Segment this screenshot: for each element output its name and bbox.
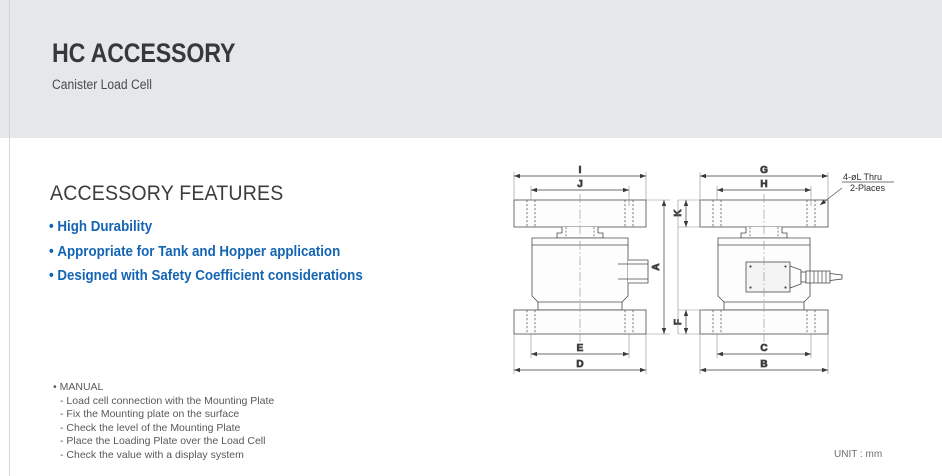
header-left-rule: [9, 0, 10, 138]
side-connector-plate: [746, 262, 790, 292]
manual-step: - Fix the Mounting plate on the surface: [53, 408, 274, 422]
dim-label-E: E: [577, 343, 584, 354]
dim-label-J: J: [577, 179, 583, 190]
feature-item: •Designed with Safety Coefficient consid…: [49, 268, 363, 284]
feature-item: •High Durability: [49, 219, 152, 235]
body-left-rule: [9, 138, 10, 476]
hole-callout-line2: 2-Places: [850, 183, 886, 193]
hole-callout-line1: 4-øL Thru: [843, 172, 882, 182]
dim-label-D: D: [576, 359, 583, 370]
side-connector-neck: [790, 266, 801, 288]
header-band: HC ACCESSORY Canister Load Cell: [0, 0, 942, 138]
dash-icon: -: [60, 435, 64, 447]
feature-label: Appropriate for Tank and Hopper applicat…: [57, 244, 340, 260]
page-title: HC ACCESSORY: [52, 38, 235, 69]
datasheet-page: HC ACCESSORY Canister Load Cell ACCESSOR…: [0, 0, 942, 476]
front-cable-boss: [628, 260, 648, 283]
manual-step: - Check the level of the Mounting Plate: [53, 422, 274, 436]
dim-label-H: H: [760, 179, 767, 190]
dim-label-K: K: [673, 209, 684, 217]
dash-icon: -: [60, 408, 64, 420]
dash-icon: -: [60, 422, 64, 434]
side-cable-end: [830, 274, 842, 281]
front-view-drawing: I J A: [514, 165, 670, 374]
dim-label-C: C: [760, 343, 767, 354]
manual-step: - Check the value with a display system: [53, 449, 274, 463]
unit-note: UNIT : mm: [834, 449, 882, 460]
manual-step: - Load cell connection with the Mounting…: [53, 395, 274, 409]
dim-label-F: F: [673, 319, 684, 325]
manual-title: • MANUAL: [53, 381, 274, 395]
side-view-drawing: G H K: [673, 165, 894, 374]
manual-step-label: Fix the Mounting plate on the surface: [66, 408, 239, 420]
manual-step-label: Load cell connection with the Mounting P…: [66, 395, 274, 407]
bullet-icon: •: [53, 381, 57, 393]
manual-title-label: MANUAL: [60, 381, 104, 393]
technical-drawing-svg: I J A: [490, 150, 942, 390]
dim-label-I: I: [579, 165, 582, 176]
side-cable-strain-relief: [806, 271, 842, 283]
manual-block: • MANUAL - Load cell connection with the…: [53, 381, 274, 462]
manual-step: - Place the Loading Plate over the Load …: [53, 435, 274, 449]
technical-drawing-area: I J A: [490, 150, 942, 390]
dim-label-G: G: [760, 165, 768, 176]
dim-label-B: B: [760, 359, 767, 370]
bullet-icon: •: [49, 219, 54, 235]
manual-step-label: Check the value with a display system: [66, 449, 243, 461]
features-heading: ACCESSORY FEATURES: [50, 182, 283, 206]
feature-label: Designed with Safety Coefficient conside…: [57, 268, 362, 284]
dim-label-A: A: [651, 263, 662, 270]
bullet-icon: •: [49, 268, 54, 284]
manual-step-label: Check the level of the Mounting Plate: [66, 422, 240, 434]
feature-item: •Appropriate for Tank and Hopper applica…: [49, 244, 340, 260]
manual-step-label: Place the Loading Plate over the Load Ce…: [66, 435, 265, 447]
dash-icon: -: [60, 395, 64, 407]
page-subtitle: Canister Load Cell: [52, 77, 152, 92]
bullet-icon: •: [49, 244, 54, 260]
dash-icon: -: [60, 449, 64, 461]
feature-label: High Durability: [57, 219, 152, 235]
